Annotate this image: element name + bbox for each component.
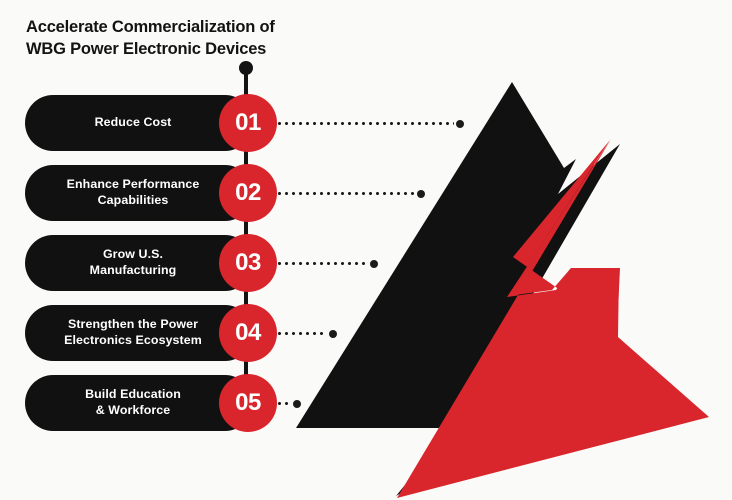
item-label: Reduce Cost — [33, 95, 233, 151]
connector-end-dot — [370, 260, 378, 268]
item-label-line-1: Enhance Performance — [67, 177, 200, 193]
connector-end-dot — [417, 190, 425, 198]
item-number-badge[interactable]: 03 — [219, 234, 277, 292]
item-label: Enhance Performance Capabilities — [33, 165, 233, 221]
item-label-line-2: Electronics Ecosystem — [64, 333, 202, 349]
item-label-line-1: Strengthen the Power — [68, 317, 198, 333]
item-label-line-1: Grow U.S. — [103, 247, 163, 263]
item-connector — [276, 191, 425, 196]
item-label-line-1: Reduce Cost — [95, 115, 172, 131]
item-number-badge[interactable]: 01 — [219, 94, 277, 152]
page-title-line-2: WBG Power Electronic Devices — [26, 38, 446, 60]
connector-end-dot — [293, 400, 301, 408]
timeline-spine-top-dot — [239, 61, 253, 75]
page-title: Accelerate Commercialization of WBG Powe… — [26, 16, 446, 61]
connector-dots — [276, 402, 291, 405]
item-connector — [276, 401, 301, 406]
item-number-badge[interactable]: 04 — [219, 304, 277, 362]
item-connector — [276, 331, 337, 336]
item-label: Strengthen the Power Electronics Ecosyst… — [33, 305, 233, 361]
connector-dots — [276, 262, 368, 265]
item-label-line-1: Build Education — [85, 387, 181, 403]
connector-dots — [276, 192, 415, 195]
connector-dots — [276, 332, 327, 335]
item-connector — [276, 261, 378, 266]
item-number-badge[interactable]: 05 — [219, 374, 277, 432]
infographic-canvas: Accelerate Commercialization of WBG Powe… — [0, 0, 732, 500]
item-label-line-2: Capabilities — [98, 193, 169, 209]
page-title-line-1: Accelerate Commercialization of — [26, 18, 275, 36]
item-label: Grow U.S. Manufacturing — [33, 235, 233, 291]
logo-black-bolt-shape — [296, 82, 620, 496]
item-connector — [276, 121, 464, 126]
item-label-line-2: & Workforce — [96, 403, 171, 419]
logo-red-mountain-shape — [397, 139, 709, 498]
logo-red-triangle-shape — [508, 140, 620, 330]
item-label-line-2: Manufacturing — [90, 263, 177, 279]
connector-dots — [276, 122, 454, 125]
connector-end-dot — [456, 120, 464, 128]
item-label: Build Education & Workforce — [33, 375, 233, 431]
item-number-badge[interactable]: 02 — [219, 164, 277, 222]
connector-end-dot — [329, 330, 337, 338]
